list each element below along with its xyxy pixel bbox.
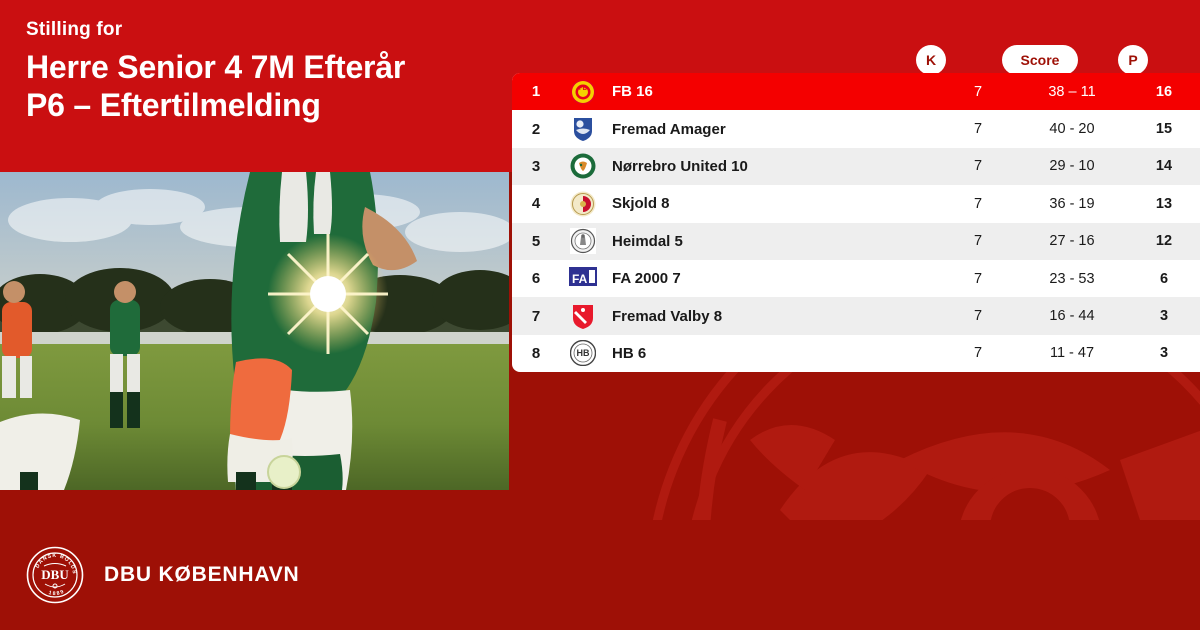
header-kicker: Stilling for <box>26 20 496 41</box>
row-matches: 7 <box>940 271 1016 287</box>
row-score: 38 – 11 <box>1016 84 1128 100</box>
standings-table: 1 FB FB 16 7 38 – 11 16 2 <box>512 73 1200 372</box>
row-rank: 1 <box>512 83 560 100</box>
row-rank: 8 <box>512 345 560 362</box>
svg-text:FB: FB <box>579 86 588 92</box>
footer-branding: DANSK BOLDSPIL UNION 1889 DBU DBU KØBENH… <box>26 546 300 604</box>
standings-graphic: Stilling for Herre Senior 4 7M Efterår P… <box>0 0 1200 630</box>
row-score: 27 - 16 <box>1016 233 1128 249</box>
row-score: 40 - 20 <box>1016 121 1128 137</box>
row-team: Skjold 8 <box>606 195 940 212</box>
table-row[interactable]: 4 Skjold 8 7 36 - 19 13 <box>512 185 1200 222</box>
row-team: Heimdal 5 <box>606 233 940 250</box>
footer-band: DANSK BOLDSPIL UNION 1889 DBU DBU KØBENH… <box>0 520 1200 630</box>
heimdal-logo <box>560 228 606 254</box>
table-row[interactable]: 6 FA FA 2000 7 7 23 - 53 6 <box>512 260 1200 297</box>
row-matches: 7 <box>940 196 1016 212</box>
row-matches: 7 <box>940 158 1016 174</box>
norrebro-united-logo <box>560 153 606 179</box>
row-score: 29 - 10 <box>1016 158 1128 174</box>
row-matches: 7 <box>940 84 1016 100</box>
row-matches: 7 <box>940 345 1016 361</box>
table-row[interactable]: 8 HB HB 6 7 11 - 47 3 <box>512 335 1200 372</box>
hb-logo: HB <box>560 340 606 366</box>
row-points: 12 <box>1128 233 1200 249</box>
row-team: Fremad Amager <box>606 121 940 138</box>
row-points: 15 <box>1128 121 1200 137</box>
row-team: Nørrebro United 10 <box>606 158 940 175</box>
row-score: 23 - 53 <box>1016 271 1128 287</box>
row-score: 11 - 47 <box>1016 345 1128 361</box>
row-rank: 3 <box>512 158 560 175</box>
fremad-amager-logo <box>560 116 606 142</box>
svg-text:FA: FA <box>572 272 588 286</box>
row-score: 36 - 19 <box>1016 196 1128 212</box>
row-rank: 7 <box>512 308 560 325</box>
table-row[interactable]: 3 Nørrebro United 10 7 29 - 10 14 <box>512 148 1200 185</box>
page-title-line1: Herre Senior 4 7M Efterår <box>26 49 496 87</box>
fb16-logo: FB <box>560 79 606 105</box>
hero-photo <box>0 172 509 490</box>
row-points: 14 <box>1128 158 1200 174</box>
row-score: 16 - 44 <box>1016 308 1128 324</box>
fremad-valby-logo <box>560 303 606 329</box>
svg-text:HB: HB <box>577 348 590 358</box>
table-row[interactable]: 5 Heimdal 5 7 27 - 16 12 <box>512 223 1200 260</box>
row-matches: 7 <box>940 121 1016 137</box>
row-team: Fremad Valby 8 <box>606 308 940 325</box>
skjold-logo <box>560 191 606 217</box>
row-team: FA 2000 7 <box>606 270 940 287</box>
row-points: 3 <box>1128 308 1200 324</box>
table-row[interactable]: 1 FB FB 16 7 38 – 11 16 <box>512 73 1200 110</box>
row-points: 3 <box>1128 345 1200 361</box>
row-points: 13 <box>1128 196 1200 212</box>
header-title-group: Stilling for Herre Senior 4 7M Efterår P… <box>26 20 496 124</box>
fa2000-logo: FA <box>560 267 606 291</box>
svg-text:DBU: DBU <box>41 567 69 582</box>
table-row[interactable]: 2 Fremad Amager 7 40 - 20 15 <box>512 110 1200 147</box>
page-title-line2: P6 – Eftertilmelding <box>26 87 496 125</box>
column-header-matches: K <box>916 45 946 75</box>
row-rank: 6 <box>512 270 560 287</box>
column-header-points: P <box>1118 45 1148 75</box>
row-matches: 7 <box>940 233 1016 249</box>
row-rank: 2 <box>512 121 560 138</box>
row-rank: 5 <box>512 233 560 250</box>
dbu-crest-icon: DANSK BOLDSPIL UNION 1889 DBU <box>26 546 84 604</box>
column-header-score: Score <box>1002 45 1078 75</box>
table-row[interactable]: 7 Fremad Valby 8 7 16 - 44 3 <box>512 297 1200 334</box>
footer-org-name: DBU KØBENHAVN <box>104 563 300 587</box>
row-points: 16 <box>1128 84 1200 100</box>
row-points: 6 <box>1128 271 1200 287</box>
row-team: HB 6 <box>606 345 940 362</box>
row-matches: 7 <box>940 308 1016 324</box>
row-team: FB 16 <box>606 83 940 100</box>
row-rank: 4 <box>512 195 560 212</box>
